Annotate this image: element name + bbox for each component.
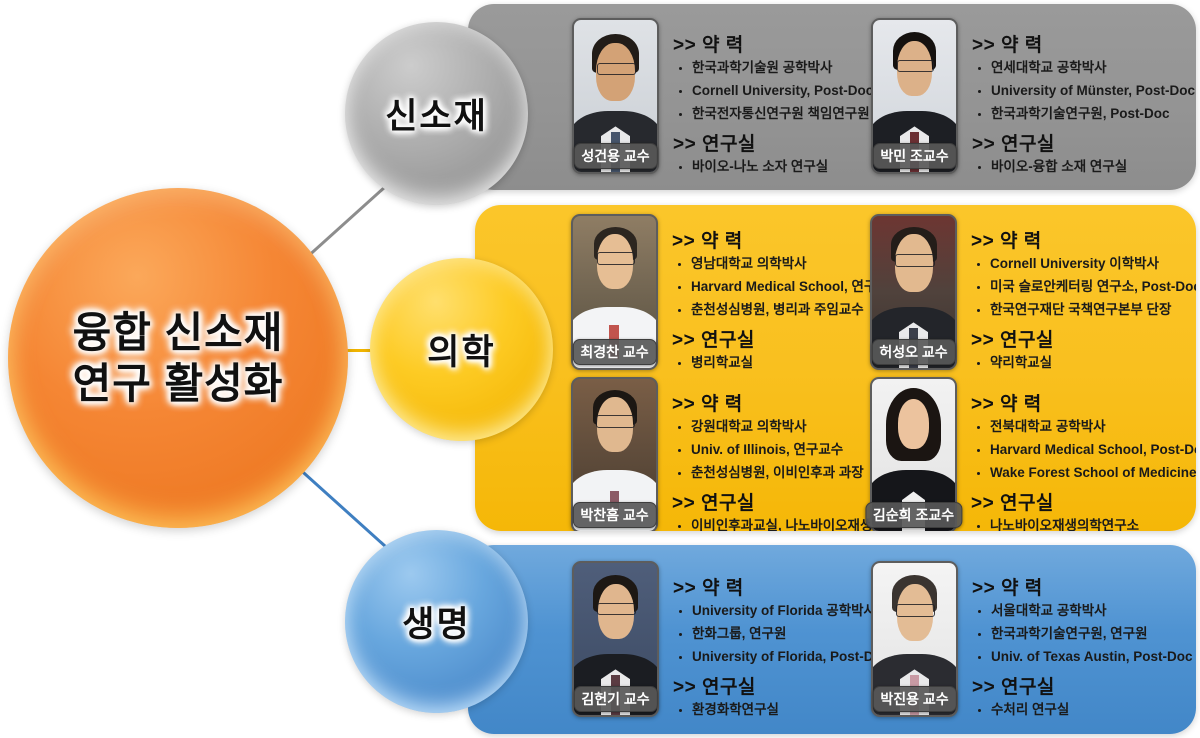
person-name: 김순희 조교수 xyxy=(865,502,962,528)
bio-list: Cornell University 이학박사 미국 슬로안케터링 연구소, P… xyxy=(975,257,1196,316)
bio-list: 연세대학교 공학박사 University of Münster, Post-D… xyxy=(976,61,1195,120)
list-item: 나노바이오재생의학연구소 xyxy=(975,519,1196,531)
category-label: 의학 xyxy=(427,324,495,375)
list-item: 춘천성심병원, 병리과 주임교수 xyxy=(676,303,901,317)
list-item: Cornell University, Post-Doc xyxy=(677,84,873,98)
category-node-materials[interactable]: 신소재 xyxy=(345,22,528,205)
central-node[interactable]: 융합 신소재 연구 활성화 xyxy=(8,188,348,528)
list-item: Harvard Medical School, 연구교수 xyxy=(676,280,901,294)
list-item: 한국과학기술원 공학박사 xyxy=(677,61,873,75)
panel-life: 김헌기 교수 >> 약 력 University of Florida 공학박사… xyxy=(468,545,1196,734)
lab-heading: >> 연구실 xyxy=(672,325,901,352)
person-name: 박찬흠 교수 xyxy=(572,502,656,528)
list-item: Univ. of Texas Austin, Post-Doc xyxy=(976,650,1193,664)
list-item: 한국연구재단 국책연구본부 단장 xyxy=(975,303,1196,317)
lab-list: 나노바이오재생의학연구소 xyxy=(975,519,1196,531)
list-item: 바이오-융합 소재 연구실 xyxy=(976,160,1195,174)
lab-heading: >> 연구실 xyxy=(972,672,1193,699)
bio-heading: >> 약 력 xyxy=(673,30,873,57)
person-info: >> 약 력 영남대학교 의학박사 Harvard Medical School… xyxy=(672,214,901,370)
connector-life xyxy=(299,468,392,552)
lab-heading: >> 연구실 xyxy=(971,325,1196,352)
avatar: 성건용 교수 xyxy=(572,18,659,174)
avatar: 박민 조교수 xyxy=(871,18,958,174)
avatar: 최경찬 교수 xyxy=(571,214,658,370)
avatar: 허성오 교수 xyxy=(870,214,957,370)
lab-list: 바이오-나노 소자 연구실 xyxy=(677,160,873,174)
list-item: 한국과학기술연구원, Post-Doc xyxy=(976,107,1195,121)
list-item: 전북대학교 공학박사 xyxy=(975,420,1196,434)
person-card: 김헌기 교수 >> 약 력 University of Florida 공학박사… xyxy=(572,561,889,717)
list-item: University of Florida, Post-Doc xyxy=(677,650,889,664)
bio-heading: >> 약 력 xyxy=(672,226,901,253)
lab-list: 수처리 연구실 xyxy=(976,703,1193,717)
person-info: >> 약 력 University of Florida 공학박사 한화그룹, … xyxy=(673,561,889,717)
bio-heading: >> 약 력 xyxy=(673,573,889,600)
person-name: 최경찬 교수 xyxy=(572,339,656,365)
central-node-title: 융합 신소재 연구 활성화 xyxy=(73,307,284,409)
avatar: 김순희 조교수 xyxy=(870,377,957,531)
list-item: University of Florida 공학박사 xyxy=(677,604,889,618)
bio-list: 한국과학기술원 공학박사 Cornell University, Post-Do… xyxy=(677,61,873,120)
connector-materials xyxy=(299,181,392,265)
lab-list: 병리학교실 xyxy=(676,356,901,370)
list-item: 한국과학기술연구원, 연구원 xyxy=(976,627,1193,641)
person-card: 최경찬 교수 >> 약 력 영남대학교 의학박사 Harvard Medical… xyxy=(571,214,901,370)
list-item: 연세대학교 공학박사 xyxy=(976,61,1195,75)
person-card: 허성오 교수 >> 약 력 Cornell University 이학박사 미국… xyxy=(870,214,1196,370)
list-item: 서울대학교 공학박사 xyxy=(976,604,1193,618)
lab-list: 환경화학연구실 xyxy=(677,703,889,717)
list-item: Harvard Medical School, Post-Doc xyxy=(975,443,1196,457)
list-item: 환경화학연구실 xyxy=(677,703,889,717)
lab-heading: >> 연구실 xyxy=(673,129,873,156)
list-item: 바이오-나노 소자 연구실 xyxy=(677,160,873,174)
category-label: 생명 xyxy=(402,596,470,647)
list-item: Cornell University 이학박사 xyxy=(975,257,1196,271)
person-card: 박민 조교수 >> 약 력 연세대학교 공학박사 University of M… xyxy=(871,18,1195,174)
list-item: 약리학교실 xyxy=(975,356,1196,370)
lab-heading: >> 연구실 xyxy=(971,488,1196,515)
person-info: >> 약 력 서울대학교 공학박사 한국과학기술연구원, 연구원 Univ. o… xyxy=(972,561,1193,717)
list-item: 수처리 연구실 xyxy=(976,703,1193,717)
list-item: 영남대학교 의학박사 xyxy=(676,257,901,271)
avatar: 박찬흠 교수 xyxy=(571,377,658,531)
panel-medicine: 최경찬 교수 >> 약 력 영남대학교 의학박사 Harvard Medical… xyxy=(475,205,1196,531)
list-item: 미국 슬로안케터링 연구소, Post-Doc xyxy=(975,280,1196,294)
bio-heading: >> 약 력 xyxy=(971,389,1196,416)
bio-list: 전북대학교 공학박사 Harvard Medical School, Post-… xyxy=(975,420,1196,479)
bio-list: University of Florida 공학박사 한화그룹, 연구원 Uni… xyxy=(677,604,889,663)
person-name: 김헌기 교수 xyxy=(573,686,657,712)
diagram-canvas: 성건용 교수 >> 약 력 한국과학기술원 공학박사 Cornell Unive… xyxy=(0,0,1200,738)
bio-heading: >> 약 력 xyxy=(972,573,1193,600)
category-node-life[interactable]: 생명 xyxy=(345,530,528,713)
list-item: University of Münster, Post-Doc xyxy=(976,84,1195,98)
person-card: 성건용 교수 >> 약 력 한국과학기술원 공학박사 Cornell Unive… xyxy=(572,18,873,174)
lab-heading: >> 연구실 xyxy=(972,129,1195,156)
list-item: 한국전자통신연구원 책임연구원 xyxy=(677,107,873,121)
avatar: 박진용 교수 xyxy=(871,561,958,717)
lab-list: 바이오-융합 소재 연구실 xyxy=(976,160,1195,174)
lab-heading: >> 연구실 xyxy=(673,672,889,699)
person-name: 허성오 교수 xyxy=(871,339,955,365)
person-name: 성건용 교수 xyxy=(573,143,657,169)
bio-heading: >> 약 력 xyxy=(972,30,1195,57)
category-label: 신소재 xyxy=(385,88,488,139)
person-card: 김순희 조교수 >> 약 력 전북대학교 공학박사 Harvard Medica… xyxy=(870,377,1196,531)
person-card: 박진용 교수 >> 약 력 서울대학교 공학박사 한국과학기술연구원, 연구원 … xyxy=(871,561,1193,717)
person-info: >> 약 력 한국과학기술원 공학박사 Cornell University, … xyxy=(673,18,873,174)
bio-list: 영남대학교 의학박사 Harvard Medical School, 연구교수 … xyxy=(676,257,901,316)
person-info: >> 약 력 연세대학교 공학박사 University of Münster,… xyxy=(972,18,1195,174)
category-node-medicine[interactable]: 의학 xyxy=(370,258,553,441)
avatar: 김헌기 교수 xyxy=(572,561,659,717)
person-name: 박진용 교수 xyxy=(872,686,956,712)
list-item: 한화그룹, 연구원 xyxy=(677,627,889,641)
person-info: >> 약 력 전북대학교 공학박사 Harvard Medical School… xyxy=(971,377,1196,531)
list-item: 병리학교실 xyxy=(676,356,901,370)
bio-list: 서울대학교 공학박사 한국과학기술연구원, 연구원 Univ. of Texas… xyxy=(976,604,1193,663)
lab-list: 약리학교실 xyxy=(975,356,1196,370)
bio-heading: >> 약 력 xyxy=(971,226,1196,253)
person-info: >> 약 력 Cornell University 이학박사 미국 슬로안케터링… xyxy=(971,214,1196,370)
panel-materials: 성건용 교수 >> 약 력 한국과학기술원 공학박사 Cornell Unive… xyxy=(468,4,1196,190)
person-name: 박민 조교수 xyxy=(872,143,956,169)
list-item: Wake Forest School of Medicine, Post-Doc xyxy=(975,466,1196,480)
